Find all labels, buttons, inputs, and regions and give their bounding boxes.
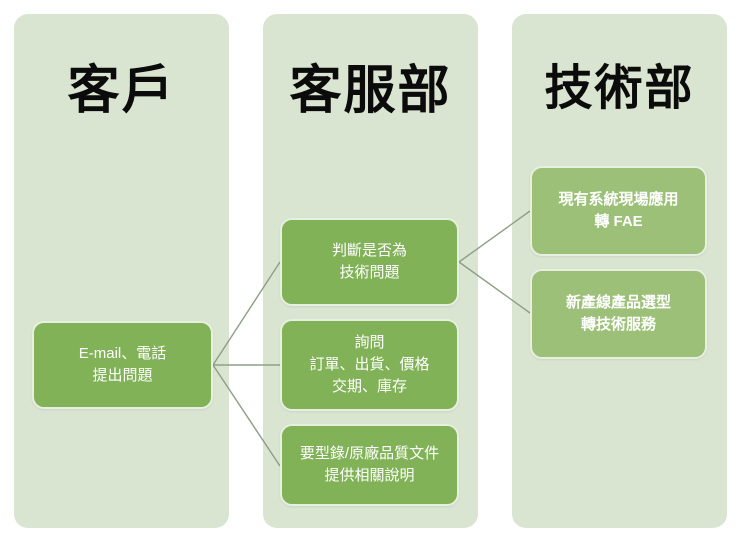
node-contact-line-2: 提出問題 — [92, 365, 152, 387]
node-fae[interactable]: 現有系統現場應用 轉 FAE — [530, 166, 707, 256]
node-judge-line-1: 判斷是否為 — [332, 240, 407, 262]
node-tech-service-line-1: 新產線產品選型 — [566, 292, 671, 314]
node-tech-service-line-2: 轉技術服務 — [581, 314, 656, 336]
node-fae-line-2: 轉 FAE — [594, 211, 642, 233]
node-tech-service[interactable]: 新產線產品選型 轉技術服務 — [530, 269, 707, 359]
flowchart-canvas: 客戶 客服部 技術部 E-mail、電話 提出問題 判斷是否為 技術問題 詢問 … — [0, 0, 740, 542]
node-documents[interactable]: 要型錄/原廠品質文件 提供相關說明 — [280, 424, 459, 506]
node-contact[interactable]: E-mail、電話 提出問題 — [32, 321, 213, 409]
connector-contact-judge — [213, 262, 280, 365]
node-contact-line-1: E-mail、電話 — [79, 343, 167, 365]
connector-contact-documents — [213, 365, 280, 466]
node-judge[interactable]: 判斷是否為 技術問題 — [280, 218, 459, 306]
node-inquiry-line-3: 交期、庫存 — [332, 376, 407, 398]
node-judge-line-2: 技術問題 — [339, 262, 399, 284]
connector-judge-tech-service — [459, 262, 530, 313]
connector-judge-fae — [459, 211, 530, 262]
node-inquiry[interactable]: 詢問 訂單、出貨、價格 交期、庫存 — [280, 319, 459, 411]
node-fae-line-1: 現有系統現場應用 — [558, 189, 678, 211]
node-documents-line-2: 提供相關說明 — [324, 465, 414, 487]
node-inquiry-line-2: 訂單、出貨、價格 — [309, 354, 429, 376]
node-documents-line-1: 要型錄/原廠品質文件 — [300, 443, 439, 465]
node-inquiry-line-1: 詢問 — [354, 332, 384, 354]
